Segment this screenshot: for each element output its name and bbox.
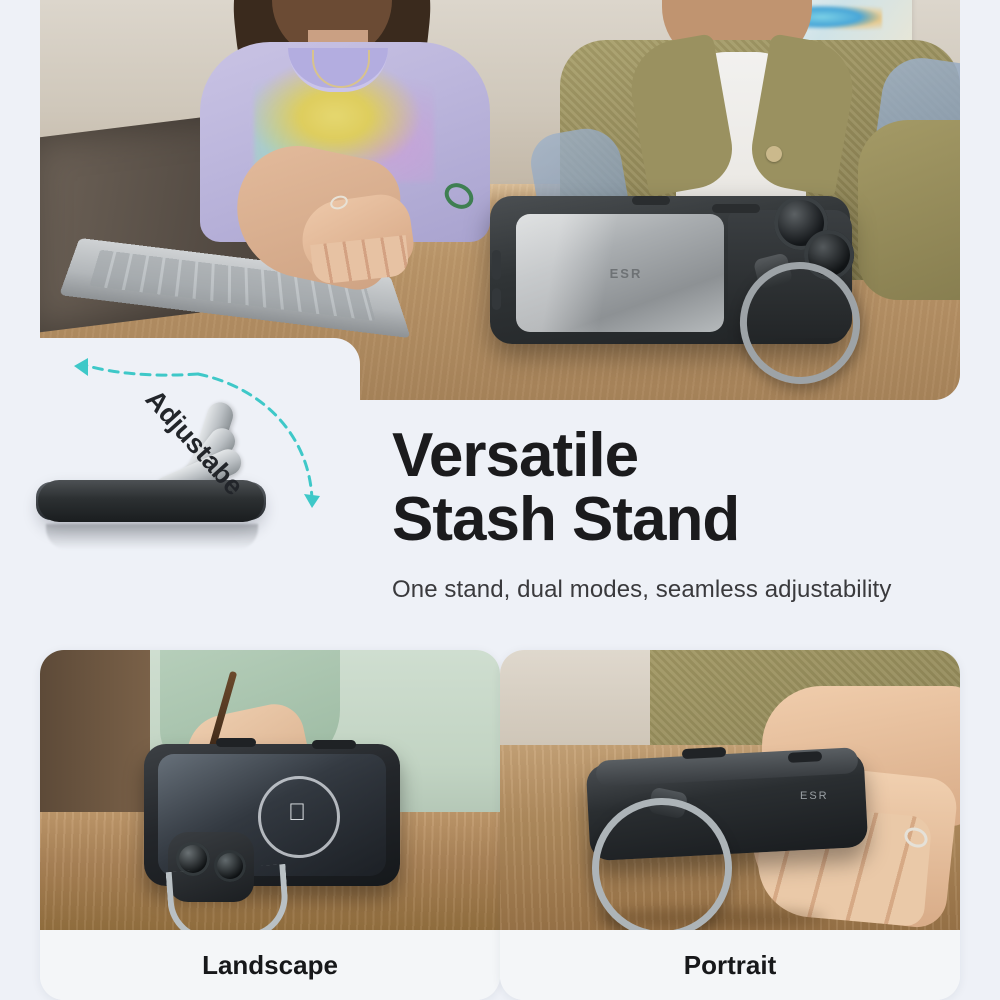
man-arm bbox=[858, 120, 960, 300]
brand-logo: ESR bbox=[800, 790, 846, 806]
brand-logo: ESR bbox=[606, 266, 646, 282]
phone-button-2 bbox=[788, 751, 822, 763]
page-title-line2: Stash Stand bbox=[392, 488, 739, 552]
power-bank-button-top2 bbox=[712, 204, 760, 213]
adjustable-angle-diagram: Adjustabe bbox=[20, 360, 390, 600]
power-bank-button-side1 bbox=[492, 250, 501, 280]
product-feature-page: ESR Adjustabe Ve bbox=[0, 0, 1000, 1000]
landscape-mode-card:  Landscape bbox=[40, 650, 500, 1000]
adjustable-arc-arrow-icon bbox=[20, 360, 390, 600]
wall-dark-panel bbox=[40, 650, 150, 812]
page-title-line1: Versatile bbox=[392, 424, 739, 488]
landscape-photo:  bbox=[40, 650, 500, 930]
portrait-photo: ESR bbox=[500, 650, 960, 930]
kickstand-ring bbox=[166, 864, 291, 930]
man-jacket-button bbox=[766, 146, 782, 162]
middle-section: Adjustabe Versatile Stash Stand One stan… bbox=[0, 400, 1000, 638]
page-subtitle: One stand, dual modes, seamless adjustab… bbox=[392, 576, 891, 604]
phone-button-1 bbox=[216, 738, 256, 747]
page-title: Versatile Stash Stand bbox=[392, 424, 739, 552]
phone-button-2 bbox=[312, 740, 356, 749]
portrait-mode-card: ESR Portrait bbox=[500, 650, 960, 1000]
card-caption-portrait: Portrait bbox=[500, 930, 960, 1000]
card-caption-landscape: Landscape bbox=[40, 930, 500, 1000]
power-bank-button-side2 bbox=[492, 288, 501, 310]
apple-logo-icon:  bbox=[286, 800, 308, 826]
power-bank-button-top bbox=[632, 196, 670, 205]
